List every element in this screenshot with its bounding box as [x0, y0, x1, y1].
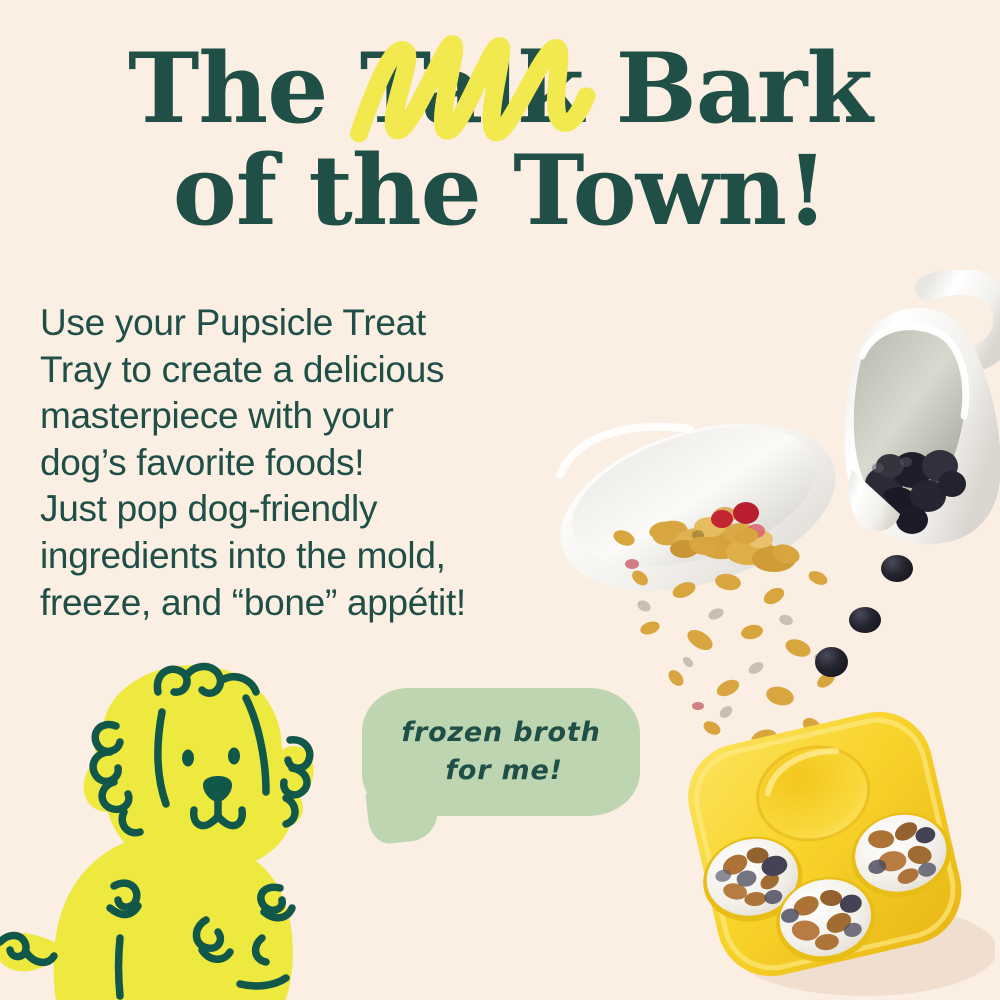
poster-canvas: The Talk Bark of the Town! Use your Pups…: [0, 0, 1000, 1000]
headline-line-1: The Talk Bark: [0, 38, 1000, 140]
blueberry-3: [815, 647, 848, 677]
treat-tray-photo: [675, 710, 995, 1000]
speech-bubble: frozen broth for me!: [362, 688, 640, 816]
product-photo-composition: [520, 270, 1000, 1000]
dog-illustration: [0, 640, 370, 1000]
dog-body-fill: [0, 665, 314, 1000]
headline-prefix: The: [128, 32, 360, 145]
blueberry-1: [881, 555, 913, 582]
headline-line-2: of the Town!: [0, 140, 1000, 242]
speech-bubble-text: frozen broth for me!: [362, 688, 640, 816]
headline-suffix: Bark: [583, 32, 872, 145]
struck-word: Talk: [360, 32, 583, 145]
speech-bubble-line-1: frozen broth: [401, 714, 600, 752]
page-title: The Talk Bark of the Town!: [0, 38, 1000, 242]
struck-word-wrapper: Talk: [360, 38, 583, 140]
blueberry-2: [849, 607, 881, 633]
speech-bubble-line-2: for me!: [439, 752, 562, 790]
falling-blueberries: [815, 555, 945, 680]
